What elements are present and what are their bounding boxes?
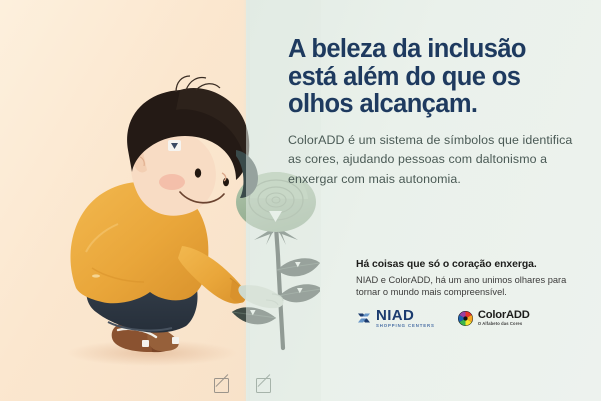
niad-wordmark: NIAD SHOPPING CENTERS	[376, 308, 435, 328]
niad-logo-tagline: SHOPPING CENTERS	[376, 324, 435, 328]
child-cheek	[159, 174, 185, 190]
footer-message-block: Há coisas que só o coração enxerga. NIAD…	[356, 259, 584, 299]
page-title: A beleza da inclusão está além do que os…	[288, 36, 576, 119]
niad-chevrons-icon	[356, 310, 372, 326]
child-eye-left	[195, 168, 201, 177]
coloradd-logo[interactable]: ColorADD O Alfabeto das Cores	[457, 310, 530, 327]
coloradd-symbol-shoe1	[142, 340, 149, 347]
coloradd-logo-name: ColorADD	[478, 310, 530, 321]
footer-message-body: NIAD e ColorADD, há um ano unimos olhare…	[356, 274, 584, 299]
subheadline-text: ColorADD é um sistema de símbolos que id…	[288, 131, 576, 190]
child-and-rose-illustration	[0, 0, 320, 401]
rose-plant	[232, 172, 320, 348]
child-hand	[238, 285, 283, 308]
coloradd-color-circle-icon	[457, 310, 474, 327]
coloradd-chip-mint	[256, 378, 271, 393]
plant-leaf-upper-right	[277, 258, 320, 276]
niad-logo[interactable]: NIAD SHOPPING CENTERS	[356, 308, 435, 328]
niad-logo-name: NIAD	[376, 308, 435, 323]
coloradd-logo-tagline: O Alfabeto das Cores	[478, 322, 530, 326]
coloradd-symbol-shoe2	[172, 337, 179, 344]
coloradd-chip-row	[214, 378, 271, 393]
footer-message-title: Há coisas que só o coração enxerga.	[356, 259, 584, 270]
coloradd-chip-warm	[214, 378, 229, 393]
headline-line-1: A beleza da inclusão	[288, 35, 526, 63]
headline-line-3: olhos alcançam.	[288, 90, 477, 118]
logo-row: NIAD SHOPPING CENTERS ColorADD O Alfabet…	[356, 308, 530, 328]
coloradd-wordmark: ColorADD O Alfabeto das Cores	[478, 310, 530, 327]
plant-stem	[276, 222, 283, 348]
plant-leaf-lower-left	[232, 307, 276, 324]
headline-line-2: está além do que os	[288, 63, 520, 91]
copy-block: A beleza da inclusão está além do que os…	[288, 36, 576, 189]
coloradd-niad-banner: A beleza da inclusão está além do que os…	[0, 0, 601, 401]
plant-leaf-mid-right	[279, 284, 320, 302]
